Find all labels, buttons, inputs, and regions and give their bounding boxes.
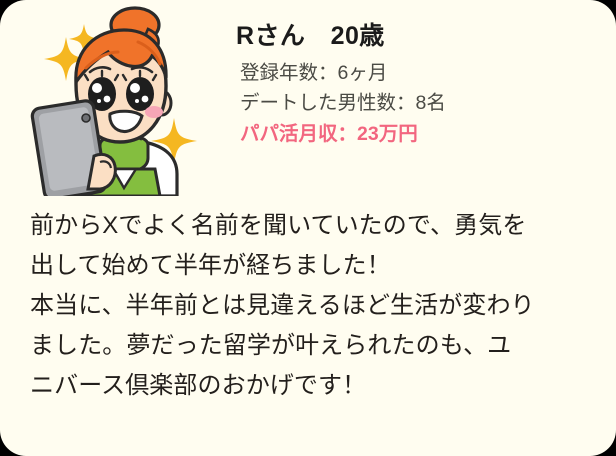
profile-name: Rさん 20歳: [236, 20, 604, 53]
testimonial-line: ました。夢だった留学が叶えられたのも、ユ: [30, 326, 586, 366]
testimonial-card: Rさん 20歳 登録年数：6ヶ月 デートした男性数：8名 パパ活月収：23万円 …: [0, 0, 616, 456]
hand: [88, 154, 115, 189]
blush: [145, 106, 163, 118]
testimonial-line: 出して始めて半年が経ちました！: [30, 246, 586, 286]
testimonial-line: 前からXでよく名前を聞いていたので、勇気を: [30, 206, 586, 246]
profile-detail-membership: 登録年数：6ヶ月: [240, 59, 604, 89]
profile-header: Rさん 20歳 登録年数：6ヶ月 デートした男性数：8名 パパ活月収：23万円: [0, 0, 616, 196]
profile-detail-income: パパ活月収：23万円: [240, 120, 604, 150]
testimonial-line: 本当に、半年前とは見違えるほど生活が変わり: [30, 286, 586, 326]
profile-detail-dates: デートした男性数：8名: [240, 89, 604, 119]
testimonial-line: ニバース倶楽部のおかげです！: [30, 366, 586, 406]
phone-camera: [82, 114, 90, 122]
avatar: [14, 6, 214, 196]
testimonial-text: 前からXでよく名前を聞いていたので、勇気を 出して始めて半年が経ちました！ 本当…: [30, 206, 586, 406]
profile-info: Rさん 20歳 登録年数：6ヶ月 デートした男性数：8名 パパ活月収：23万円: [222, 14, 604, 150]
